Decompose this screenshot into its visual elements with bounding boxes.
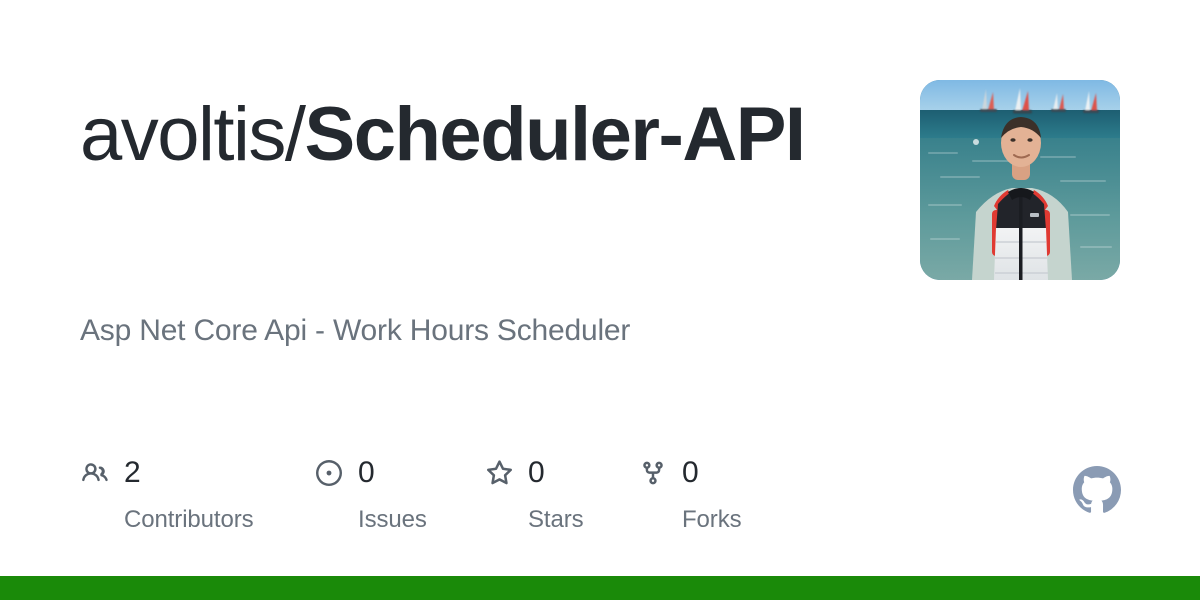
stat-issues-label: Issues: [358, 506, 484, 534]
stat-stars-value: 0: [528, 458, 545, 488]
repo-description: Asp Net Core Api - Work Hours Scheduler: [80, 310, 860, 352]
stat-contributors-top: 2: [80, 452, 314, 494]
stat-stars-label: Stars: [528, 506, 638, 534]
bottom-accent-bar: [0, 576, 1200, 600]
stat-contributors-value: 2: [124, 458, 141, 488]
page-title: avoltis/Scheduler-API: [80, 88, 840, 182]
repo-owner: avoltis/: [80, 92, 305, 177]
repo-stats: 2 Contributors 0 Issues: [80, 452, 798, 536]
stat-contributors: 2 Contributors: [80, 452, 314, 536]
stat-issues: 0 Issues: [314, 452, 484, 536]
stat-forks-value: 0: [682, 458, 699, 488]
stat-stars: 0 Stars: [484, 452, 638, 536]
repo-forked-icon: [638, 458, 668, 488]
stat-stars-top: 0: [484, 452, 638, 494]
stat-contributors-label: Contributors: [124, 506, 314, 534]
stat-forks: 0 Forks: [638, 452, 798, 536]
issue-opened-icon: [314, 458, 344, 488]
stat-issues-value: 0: [358, 458, 375, 488]
people-icon: [80, 458, 110, 488]
stat-issues-top: 0: [314, 452, 484, 494]
repo-full-name: avoltis/Scheduler-API: [80, 88, 840, 182]
repo-social-preview-card: avoltis/Scheduler-API Asp Net Core Api -…: [0, 0, 1200, 600]
stat-forks-label: Forks: [682, 506, 798, 534]
github-mark-icon: [1073, 466, 1121, 514]
stat-forks-top: 0: [638, 452, 798, 494]
star-icon: [484, 458, 514, 488]
avatar: [920, 80, 1120, 280]
repo-name: Scheduler-API: [305, 92, 805, 177]
